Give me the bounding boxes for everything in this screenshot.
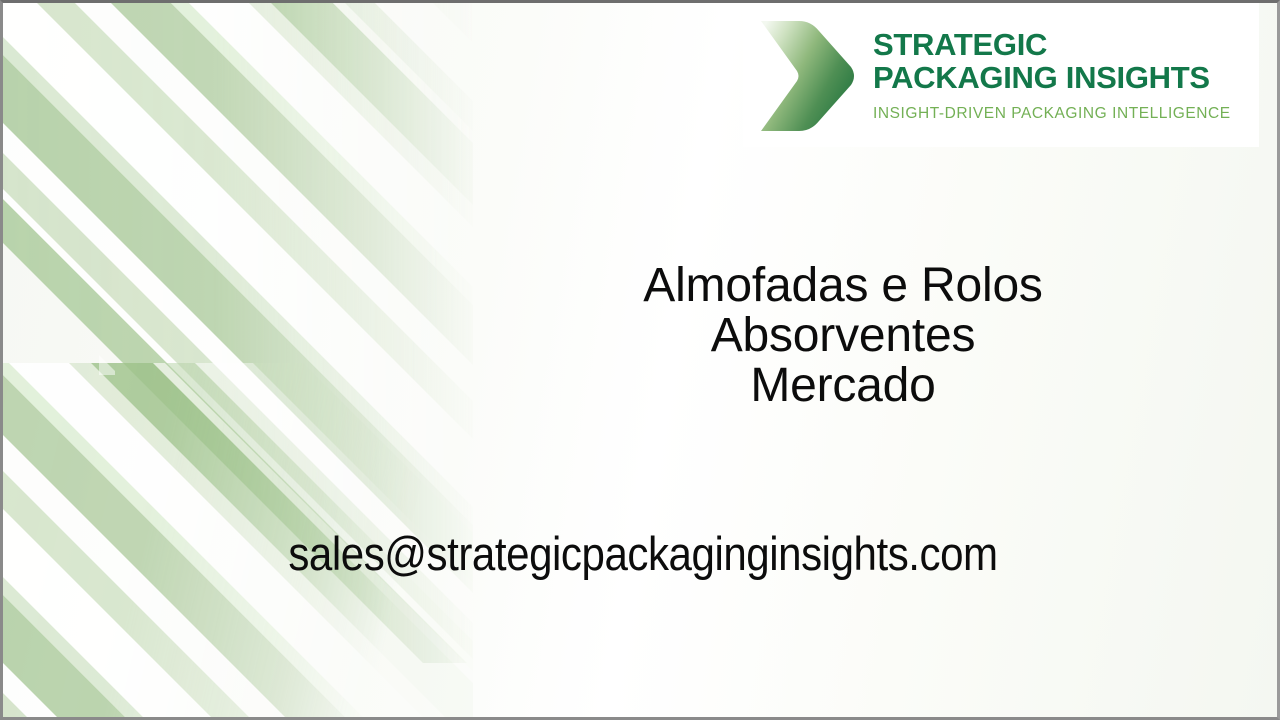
page-title: Almofadas e Rolos Absorventes Mercado bbox=[423, 261, 1263, 411]
contact-email[interactable]: sales@strategicpackaginginsights.com bbox=[70, 527, 1216, 581]
title-line-3: Mercado bbox=[423, 361, 1263, 411]
company-logo: STRATEGIC PACKAGING INSIGHTS INSIGHT-DRI… bbox=[743, 3, 1259, 147]
chevron-stripes-graphic bbox=[3, 3, 473, 720]
title-line-1: Almofadas e Rolos bbox=[423, 261, 1263, 311]
chevron-apex-highlight bbox=[99, 355, 115, 375]
logo-wordmark: STRATEGIC PACKAGING INSIGHTS INSIGHT-DRI… bbox=[873, 28, 1231, 123]
chevron-stripes-svg bbox=[3, 3, 473, 720]
title-slide: STRATEGIC PACKAGING INSIGHTS INSIGHT-DRI… bbox=[0, 0, 1280, 720]
title-line-2: Absorventes bbox=[423, 311, 1263, 361]
logo-line-2: PACKAGING INSIGHTS bbox=[873, 61, 1231, 94]
logo-line-1: STRATEGIC bbox=[873, 28, 1231, 61]
logo-tagline: INSIGHT-DRIVEN PACKAGING INTELLIGENCE bbox=[873, 105, 1231, 123]
chevron-right-icon bbox=[753, 15, 857, 137]
